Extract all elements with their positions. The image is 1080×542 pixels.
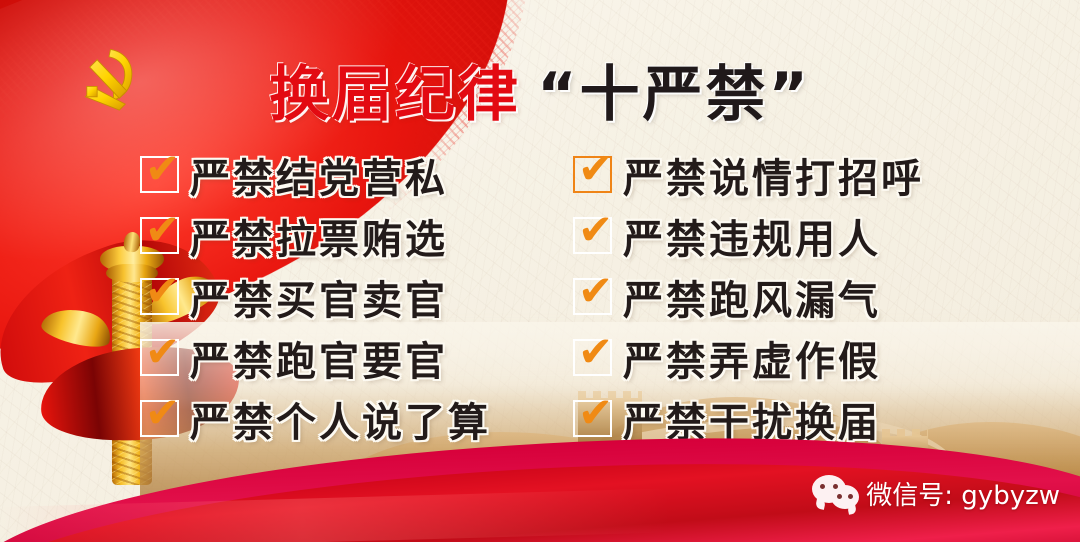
check-mark-icon: ✔ [145, 270, 189, 312]
list-item-label: 严禁说情打招呼 [623, 146, 924, 204]
check-mark-icon: ✔ [578, 209, 622, 251]
list-item[interactable]: ✔ 严禁拉票贿选 [140, 207, 610, 264]
check-mark-icon: ✔ [578, 392, 622, 434]
page-title: 换届纪律“十严禁” [0, 46, 1080, 133]
check-mark-icon: ✔ [578, 331, 622, 373]
title-highlight: 换届纪律 [269, 60, 521, 130]
title-emphasis: “十严禁” [537, 60, 811, 130]
wechat-account-label: 微信号: gybyzw [866, 475, 1060, 512]
checkbox[interactable]: ✔ [140, 278, 179, 315]
list-item[interactable]: ✔ 严禁弄虚作假 [573, 329, 1043, 386]
checkbox[interactable]: ✔ [140, 339, 179, 376]
prohibitions-column-right: ✔ 严禁说情打招呼 ✔ 严禁违规用人 ✔ 严禁跑风漏气 ✔ 严禁弄 [573, 146, 1043, 451]
list-item[interactable]: ✔ 严禁结党营私 [140, 146, 610, 203]
checkbox[interactable]: ✔ [140, 217, 179, 254]
prohibitions-column-left: ✔ 严禁结党营私 ✔ 严禁拉票贿选 ✔ 严禁买官卖官 ✔ 严禁跑官 [140, 146, 610, 451]
list-item-label: 严禁拉票贿选 [190, 207, 448, 265]
list-item[interactable]: ✔ 严禁买官卖官 [140, 268, 610, 325]
list-item-label: 严禁跑风漏气 [623, 268, 881, 326]
check-mark-icon: ✔ [145, 331, 189, 373]
prohibitions-list: ✔ 严禁结党营私 ✔ 严禁拉票贿选 ✔ 严禁买官卖官 ✔ 严禁跑官 [0, 146, 1080, 446]
checkbox[interactable]: ✔ [573, 339, 612, 376]
list-item[interactable]: ✔ 严禁个人说了算 [140, 390, 610, 447]
checkbox[interactable]: ✔ [573, 156, 612, 193]
check-mark-icon: ✔ [145, 209, 189, 251]
checkbox[interactable]: ✔ [573, 278, 612, 315]
list-item[interactable]: ✔ 严禁跑官要官 [140, 329, 610, 386]
checkbox[interactable]: ✔ [573, 217, 612, 254]
wechat-account-footer: 微信号: gybyzw [812, 472, 1060, 514]
list-item-label: 严禁买官卖官 [190, 268, 448, 326]
list-item[interactable]: ✔ 严禁跑风漏气 [573, 268, 1043, 325]
wechat-icon [812, 475, 860, 511]
list-item-label: 严禁结党营私 [190, 146, 448, 204]
check-mark-icon: ✔ [145, 148, 189, 190]
list-item-label: 严禁违规用人 [623, 207, 881, 265]
checkbox[interactable]: ✔ [140, 400, 179, 437]
checkbox[interactable]: ✔ [140, 156, 179, 193]
list-item[interactable]: ✔ 严禁违规用人 [573, 207, 1043, 264]
poster-canvas: 换届纪律“十严禁” ✔ 严禁结党营私 ✔ 严禁拉票贿选 ✔ 严禁买官卖官 [0, 0, 1080, 542]
list-item-label: 严禁个人说了算 [190, 390, 491, 448]
list-item-label: 严禁弄虚作假 [623, 329, 881, 387]
list-item[interactable]: ✔ 严禁说情打招呼 [573, 146, 1043, 203]
list-item-label: 严禁跑官要官 [190, 329, 448, 387]
check-mark-icon: ✔ [145, 392, 189, 434]
checkbox[interactable]: ✔ [573, 400, 612, 437]
check-mark-icon: ✔ [578, 148, 622, 190]
check-mark-icon: ✔ [578, 270, 622, 312]
